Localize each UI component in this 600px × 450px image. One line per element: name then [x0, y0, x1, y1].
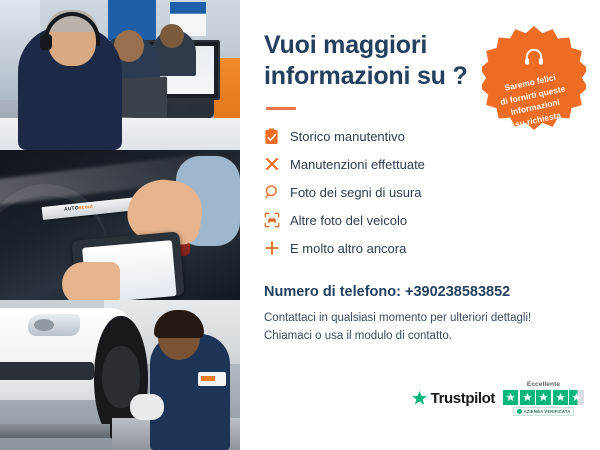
star-5-half: [569, 390, 584, 405]
verified-check-icon: [517, 409, 522, 414]
contact-subtext-line-2: Chiamaci o usa il modulo di contatto.: [264, 328, 576, 346]
car-headlight: [28, 314, 80, 336]
list-item-label: Foto dei segni di usura: [290, 185, 422, 200]
list-item-label: Manutenzioni effettuate: [290, 157, 425, 172]
trustpilot-stars: [503, 390, 584, 405]
headset-icon: [523, 48, 545, 66]
list-item: E molto altro ancora: [264, 234, 576, 262]
magnifier-icon: [264, 184, 290, 200]
contact-subtext-line-1: Contattaci in qualsiasi momento per ulte…: [264, 310, 576, 328]
photo-mechanic-on-lift: [0, 300, 240, 450]
photo-call-centre: [0, 0, 240, 150]
title-divider: [266, 107, 296, 110]
verified-business-badge: AZIENDA VERIFICATA: [513, 407, 575, 416]
trustpilot-logo: Trustpilot: [411, 390, 495, 407]
phone-label: Numero di telefono:: [264, 284, 401, 300]
promo-banner: AUTOscout: [0, 0, 600, 450]
strip-logo: AUTOscout: [64, 204, 94, 213]
list-item: Altre foto del veicolo: [264, 206, 576, 234]
star-4: [553, 390, 568, 405]
photo-bodywork-inspection: AUTOscout: [0, 150, 240, 300]
list-item: Manutenzioni effettuate: [264, 150, 576, 178]
trustpilot-star-icon: [411, 390, 428, 407]
car-grille: [0, 362, 94, 380]
star-1: [503, 390, 518, 405]
contact-subtext: Contattaci in qualsiasi momento per ulte…: [264, 310, 576, 346]
content-panel: Saremo felici di fornirti queste informa…: [240, 0, 600, 450]
trustpilot-widget[interactable]: Trustpilot Eccellente: [411, 381, 584, 416]
technician-hand-lower: [62, 262, 120, 300]
trustpilot-brand: Trustpilot: [431, 390, 495, 407]
list-item: Foto dei segni di usura: [264, 178, 576, 206]
star-3: [536, 390, 551, 405]
trustpilot-rating-block: Eccellente: [503, 381, 584, 416]
list-item-label: Altre foto del veicolo: [290, 213, 407, 228]
trustpilot-rating-label: Eccellente: [527, 381, 560, 388]
list-item-label: Storico manutentivo: [290, 129, 405, 144]
car-lift-arm: [0, 424, 110, 438]
wrench-cross-icon: [264, 156, 290, 172]
star-2: [520, 390, 535, 405]
uniform-logo-patch: [198, 372, 226, 386]
plus-icon: [264, 240, 290, 256]
phone-number[interactable]: +390238583852: [405, 284, 510, 300]
photo-column: AUTOscout: [0, 0, 240, 450]
clipboard-check-icon: [264, 128, 290, 145]
headset-earcup: [40, 34, 52, 50]
callout-badge: Saremo felici di fornirti queste informa…: [482, 26, 586, 130]
background-worker-2-head: [160, 24, 184, 48]
monitor-stand: [172, 100, 190, 112]
scan-car-icon: [264, 212, 290, 228]
verified-label: AZIENDA VERIFICATA: [524, 409, 571, 414]
feature-list: Storico manutentivo Manutenzioni effettu…: [264, 122, 576, 262]
mechanic-glove: [130, 394, 164, 420]
list-item-label: E molto altro ancora: [290, 241, 406, 256]
phone-line: Numero di telefono: +390238583852: [264, 284, 576, 300]
